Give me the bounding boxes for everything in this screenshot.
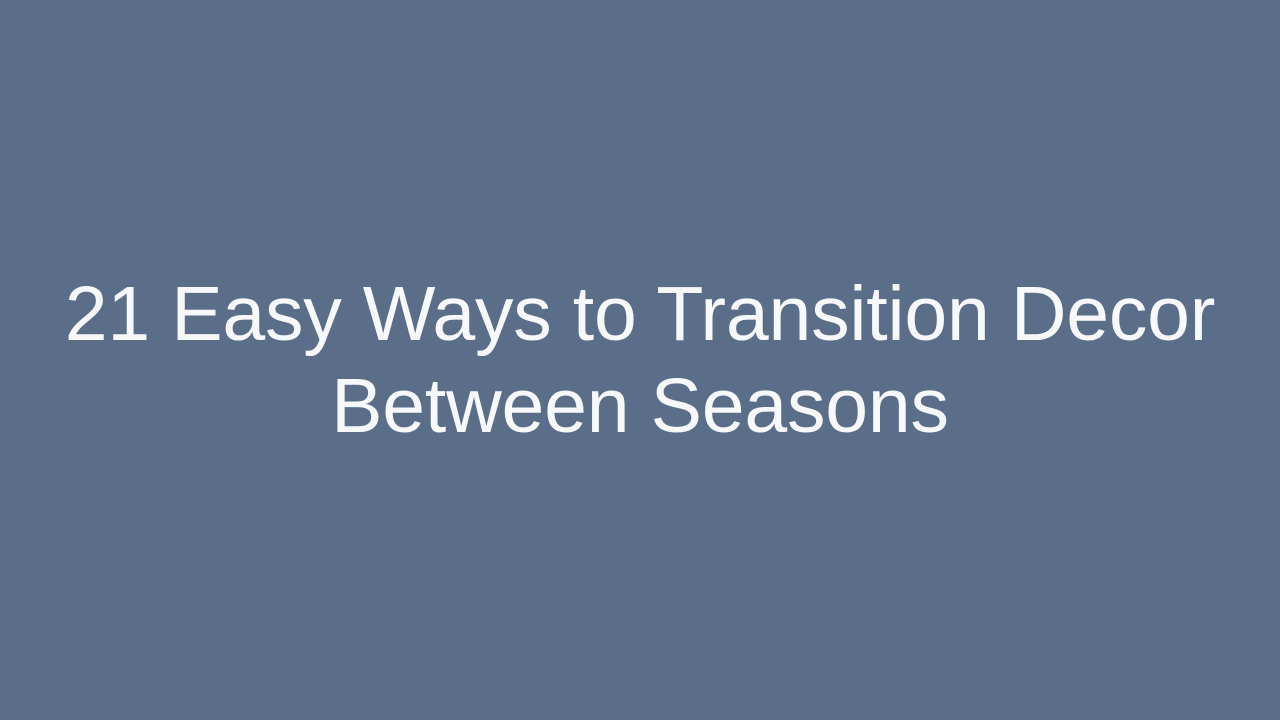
page-title: 21 Easy Ways to Transition Decor Between… <box>0 268 1280 452</box>
title-card: 21 Easy Ways to Transition Decor Between… <box>0 0 1280 720</box>
